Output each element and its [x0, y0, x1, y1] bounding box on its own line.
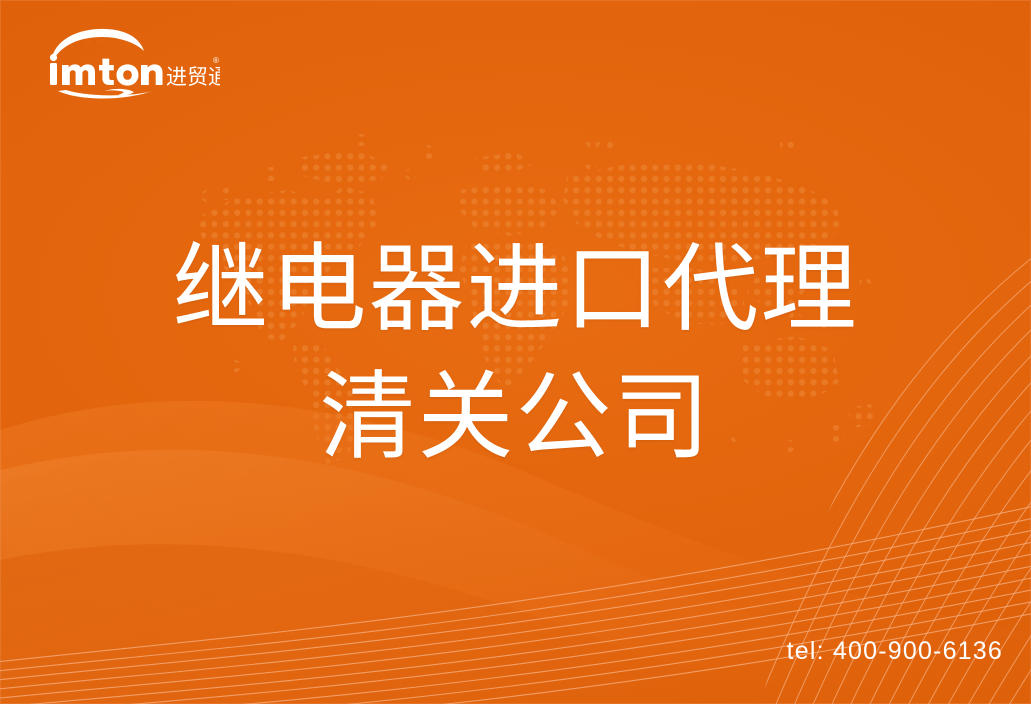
swoosh-icon	[58, 89, 152, 99]
headline-line-1: 继电器进口代理	[0, 226, 1031, 354]
promo-banner: 进贸通 ® 继电器进口代理 清关公司 tel: 400-900-6136	[0, 0, 1031, 704]
registered-mark: ®	[213, 56, 219, 65]
brand-logo[interactable]: 进贸通 ®	[44, 27, 220, 99]
logo-chinese-name: 进贸通	[166, 65, 220, 89]
headline-line-2: 清关公司	[0, 354, 1031, 482]
contact-phone: tel: 400-900-6136	[787, 637, 1003, 666]
globe-arc-icon	[52, 29, 144, 59]
logo-wordmark	[50, 54, 163, 86]
page-title: 继电器进口代理 清关公司	[0, 226, 1031, 481]
